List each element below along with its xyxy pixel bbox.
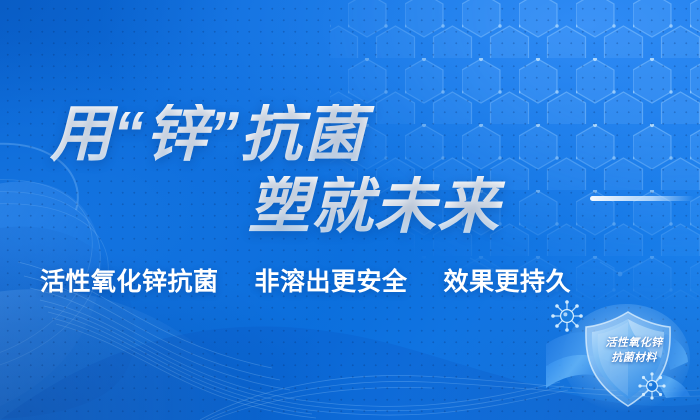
headline-block: 用“锌”抗菌 塑就未来 [0, 104, 700, 238]
subtitle-item-2: 非溶出更安全 [255, 262, 408, 298]
promo-banner: 用“锌”抗菌 塑就未来 活性氧化锌抗菌 非溶出更安全 效果更持久 [0, 0, 700, 420]
headline-streak-decoration [590, 196, 694, 201]
germ-icon-lower [638, 372, 665, 399]
headline-line-2: 塑就未来 [248, 176, 700, 238]
germ-icon-upper [551, 300, 583, 332]
headline-line-1: 用“锌”抗菌 [50, 104, 700, 166]
subtitle-item-3: 效果更持久 [444, 262, 572, 298]
antibacterial-shield-badge: 活性氧化锌 抗菌材料 [540, 300, 700, 420]
subtitle-row: 活性氧化锌抗菌 非溶出更安全 效果更持久 [40, 262, 571, 298]
subtitle-item-1: 活性氧化锌抗菌 [40, 262, 219, 298]
